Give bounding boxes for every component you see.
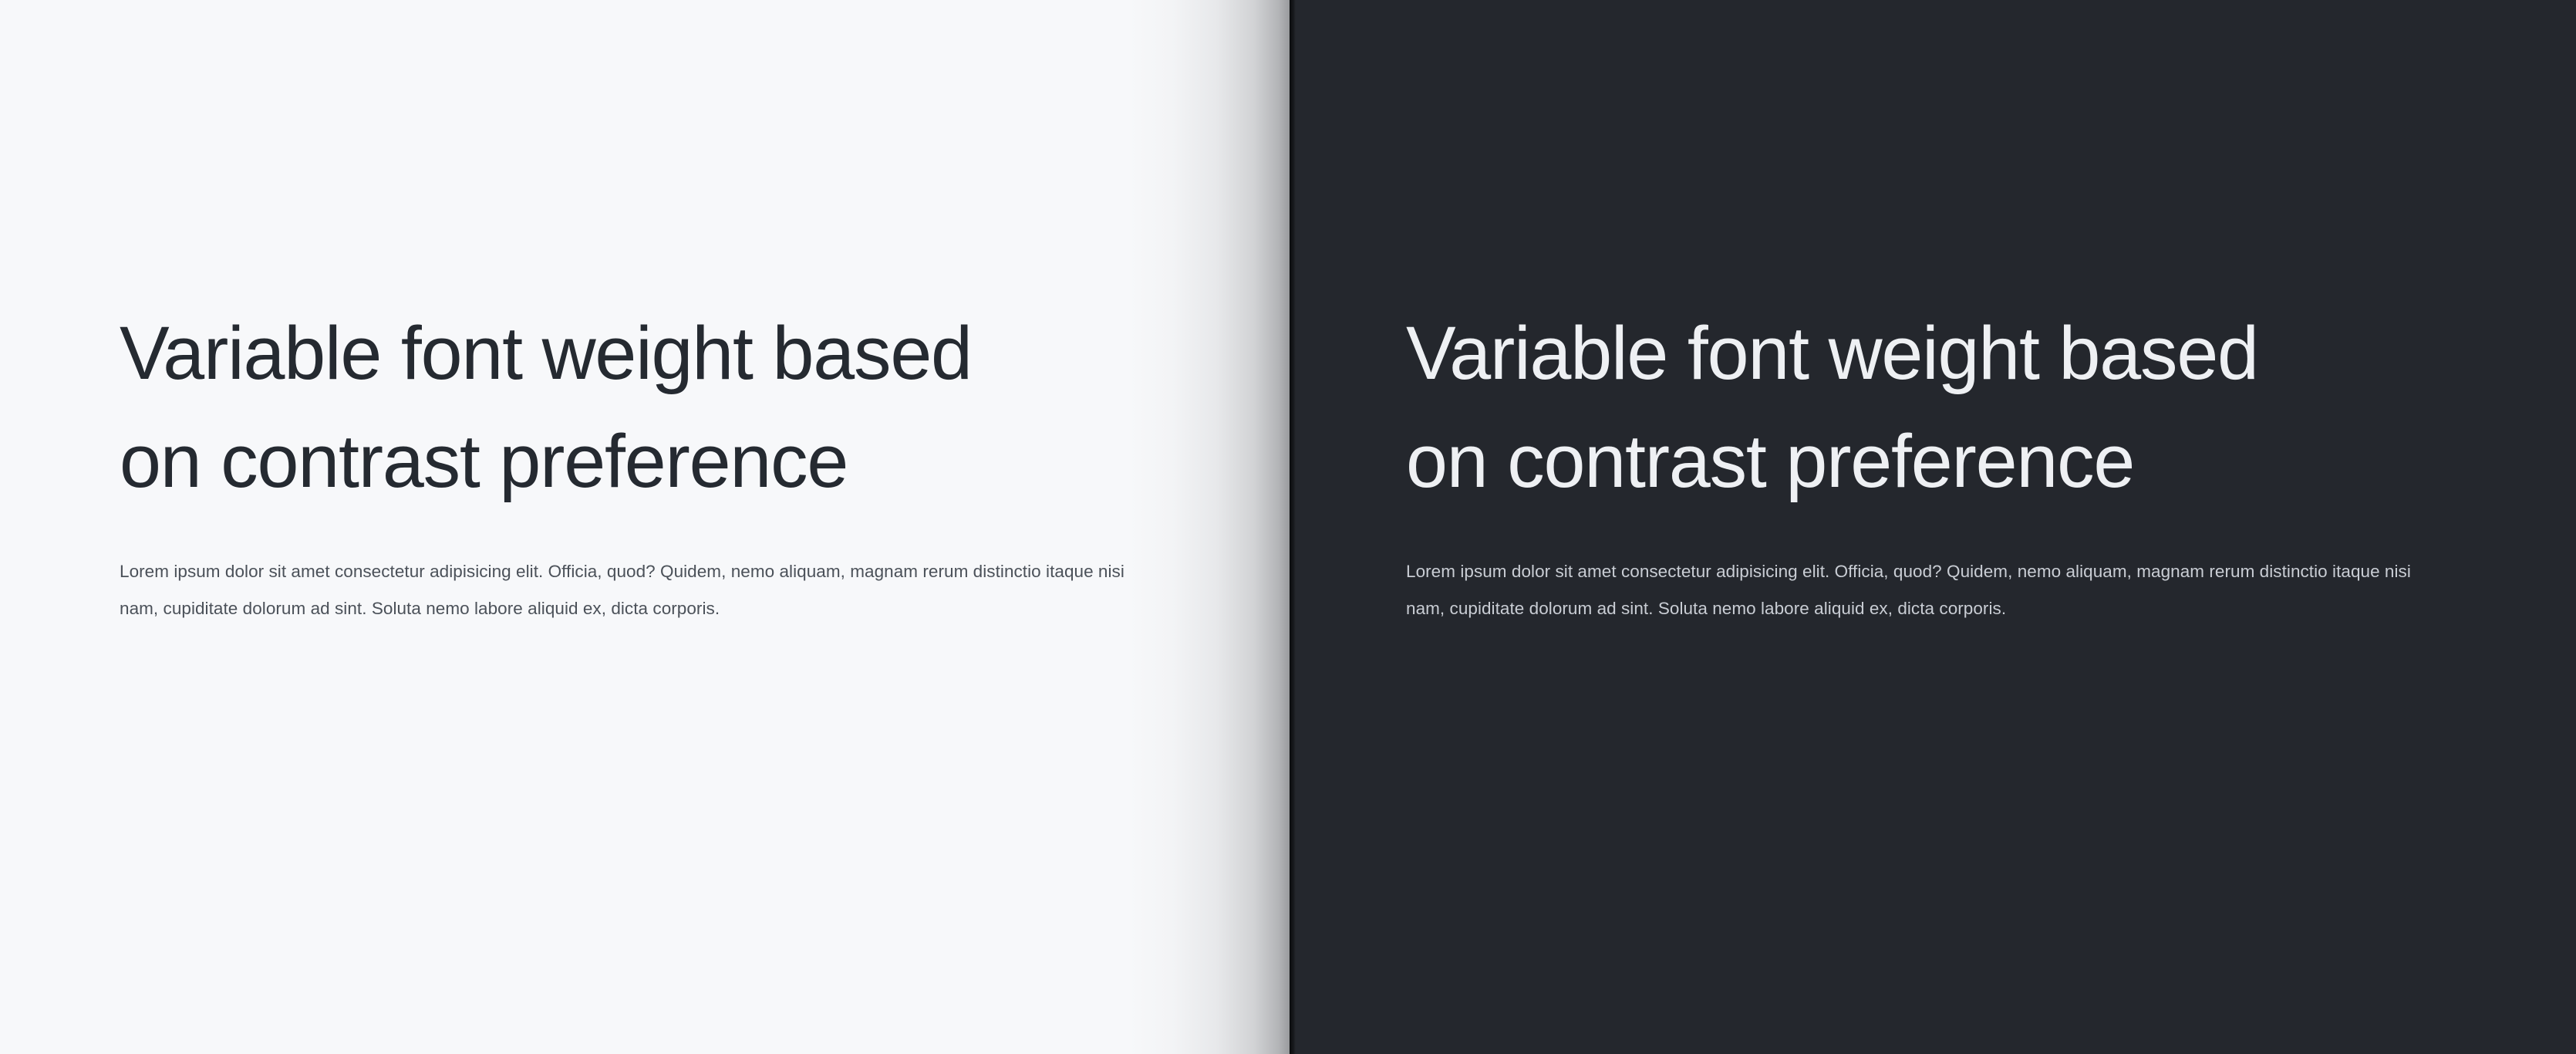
dark-panel-content: Variable font weight based on contrast p… <box>1406 299 2432 627</box>
dark-panel-body-text: Lorem ipsum dolor sit amet consectetur a… <box>1406 553 2416 627</box>
panel-divider <box>1290 0 1296 1054</box>
panel-edge-shadow <box>1128 0 1290 1054</box>
light-panel-body-text: Lorem ipsum dolor sit amet consectetur a… <box>120 553 1130 627</box>
split-preview-stage: Variable font weight based on contrast p… <box>0 0 2576 1054</box>
light-scheme-panel: Variable font weight based on contrast p… <box>0 0 1290 1054</box>
light-panel-heading: Variable font weight based on contrast p… <box>120 299 1138 515</box>
dark-panel-heading: Variable font weight based on contrast p… <box>1406 299 2432 515</box>
dark-scheme-panel: Variable font weight based on contrast p… <box>1290 0 2576 1054</box>
light-panel-content: Variable font weight based on contrast p… <box>120 299 1138 627</box>
